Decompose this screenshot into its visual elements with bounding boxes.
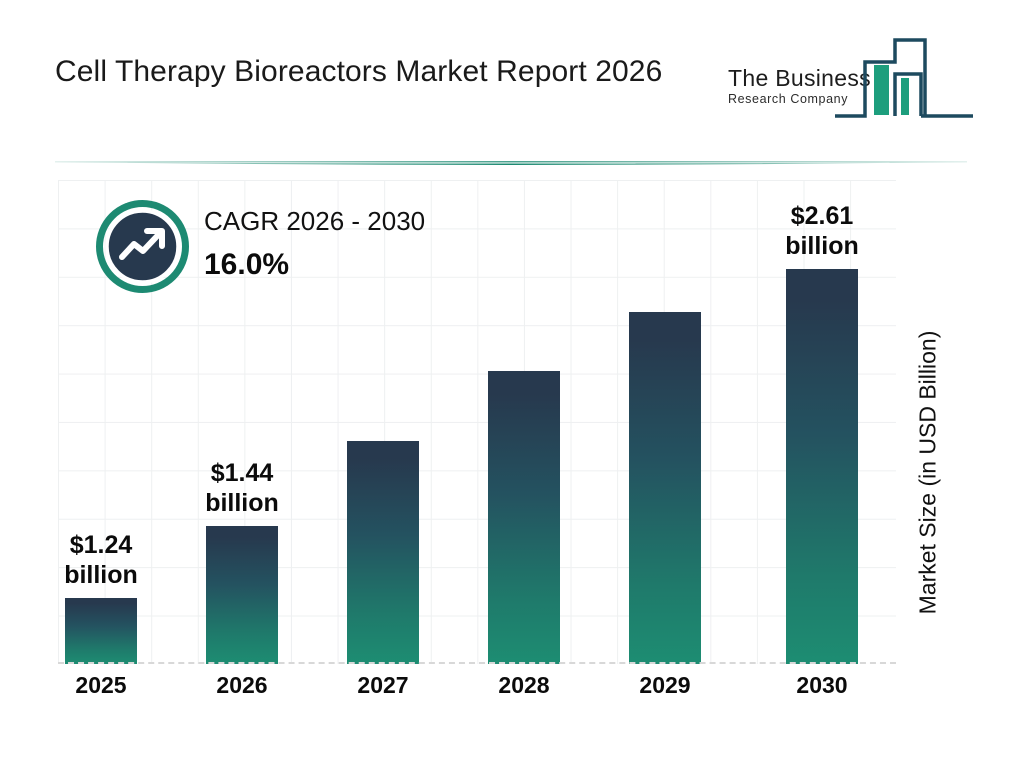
company-logo: The Business Research Company [718,32,976,132]
y-axis-label: Market Size (in USD Billion) [908,282,948,662]
bar-value-amount-2025: $1.24 [64,530,138,560]
bar-value-amount-2030: $2.61 [785,201,859,231]
bar-value-label-2030: $2.61 billion [785,201,859,261]
header-divider [55,158,967,168]
cagr-callout: CAGR 2026 - 2030 16.0% [96,200,516,300]
bar-2026[interactable] [206,526,278,664]
bar-chart-logo-mark [833,32,978,127]
x-tick-2025: 2025 [65,672,137,699]
chart-baseline [58,662,896,664]
x-axis: 2025 2026 2027 2028 2029 2030 [58,672,896,712]
x-tick-2030: 2030 [786,672,858,699]
cagr-value: 16.0% [204,244,514,286]
y-axis-label-text: Market Size (in USD Billion) [915,330,942,614]
x-tick-2028: 2028 [488,672,560,699]
bar-value-label-2026: $1.44 billion [205,458,279,518]
chart-page: Cell Therapy Bioreactors Market Report 2… [0,0,1024,768]
bar-value-unit-2025: billion [64,560,138,590]
cagr-text-block: CAGR 2026 - 2030 16.0% [204,204,514,286]
x-tick-2026: 2026 [206,672,278,699]
cagr-period-label: CAGR 2026 - 2030 [204,204,514,238]
header: Cell Therapy Bioreactors Market Report 2… [0,0,1024,160]
trending-up-icon [96,200,189,293]
bar-value-unit-2030: billion [785,231,859,261]
x-tick-2029: 2029 [629,672,701,699]
bar-2027[interactable] [347,441,419,664]
bar-value-amount-2026: $1.44 [205,458,279,488]
bar-2029[interactable] [629,312,701,664]
bar-value-label-2025: $1.24 billion [64,530,138,590]
bar-2025[interactable] [65,598,137,664]
bar-value-unit-2026: billion [205,488,279,518]
bar-2030[interactable] [786,269,858,664]
page-title: Cell Therapy Bioreactors Market Report 2… [55,50,695,94]
bar-2028[interactable] [488,371,560,664]
x-tick-2027: 2027 [347,672,419,699]
